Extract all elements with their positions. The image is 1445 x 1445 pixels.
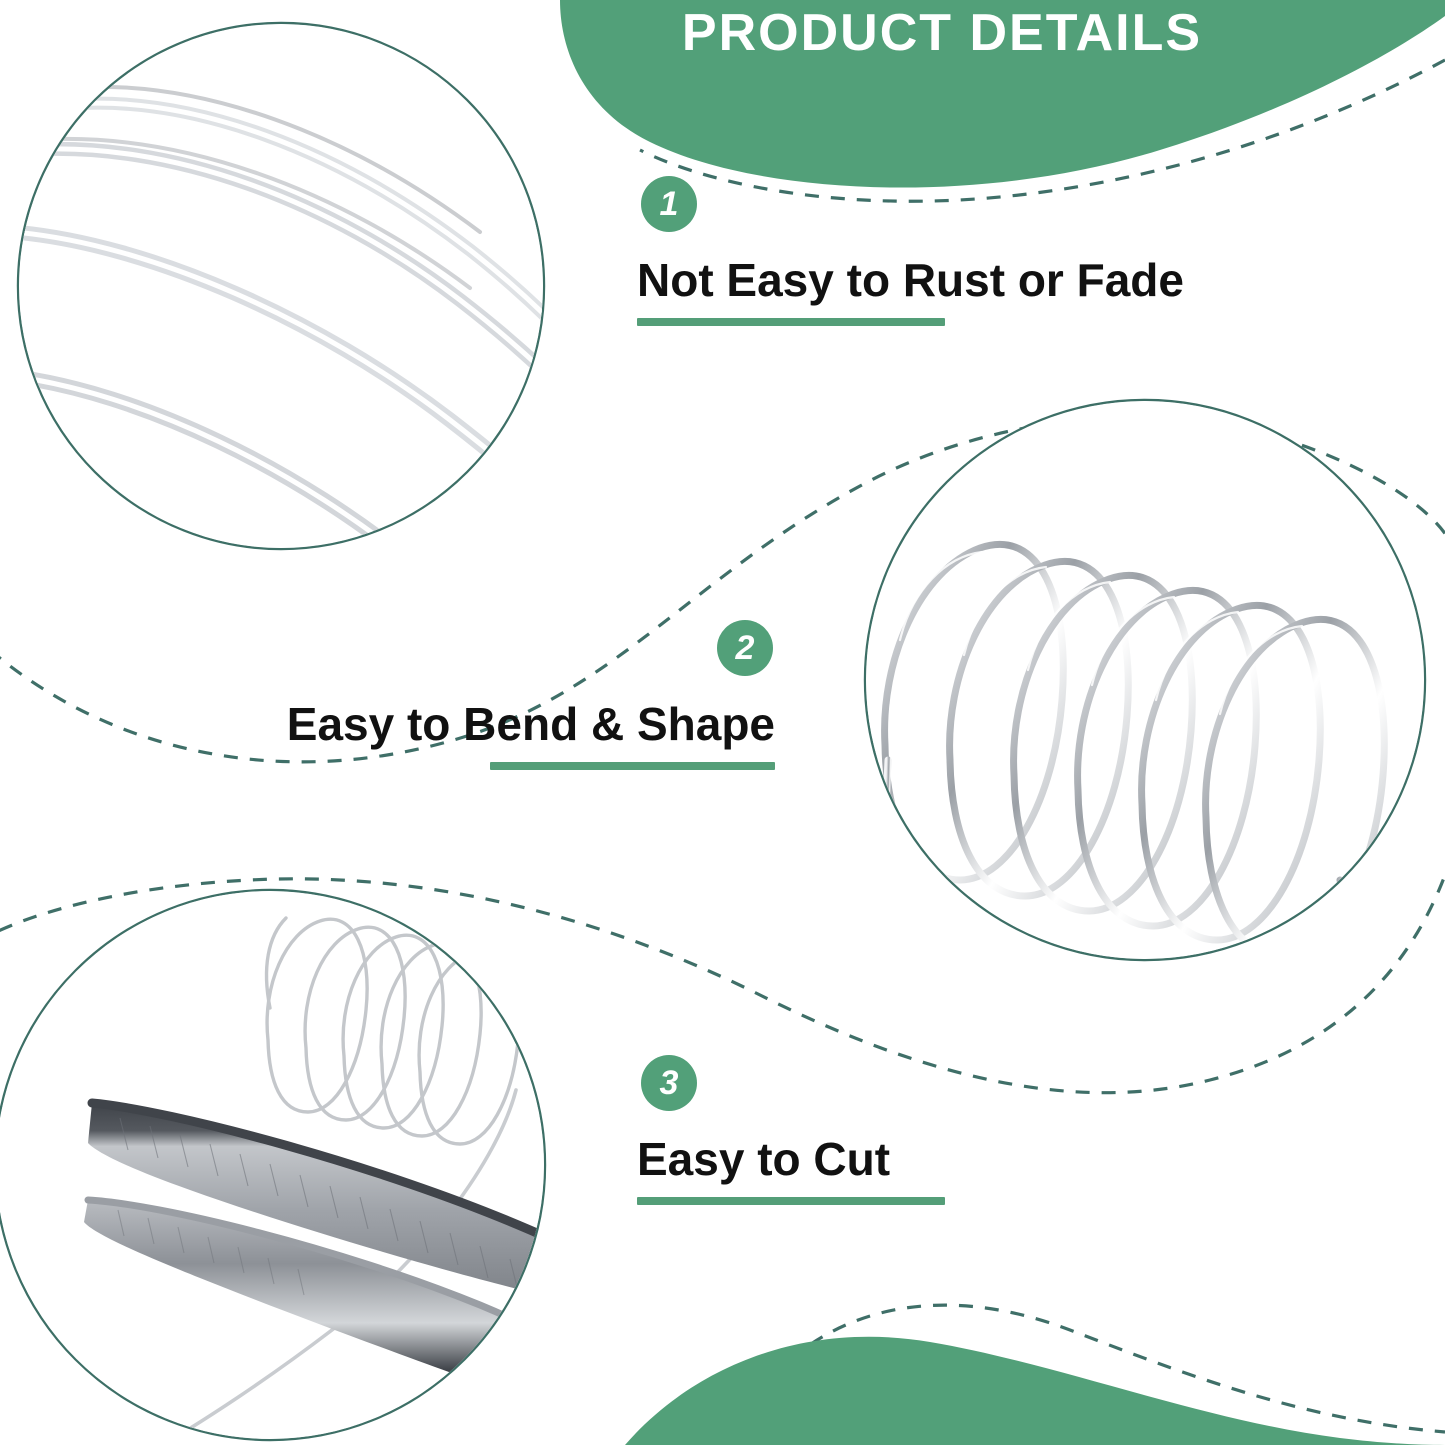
feature-title-2: Easy to Bend & Shape (230, 700, 775, 748)
feature-underline-3 (637, 1197, 945, 1205)
feature-item-1: 1 Not Easy to Rust or Fade (637, 176, 1237, 326)
feature-underline-1 (637, 318, 945, 326)
feature-item-2: 2 Easy to Bend & Shape (230, 620, 775, 770)
feature-number-badge-1: 1 (641, 176, 697, 232)
feature-title-1: Not Easy to Rust or Fade (637, 256, 1237, 304)
feature-underline-2 (490, 762, 775, 770)
page-title: PRODUCT DETAILS (622, 7, 1262, 59)
feature-number-badge-3: 3 (641, 1055, 697, 1111)
product-details-infographic: PRODUCT DETAILS 1 Not Easy to Rust or Fa… (0, 0, 1445, 1445)
content-layer: PRODUCT DETAILS 1 Not Easy to Rust or Fa… (0, 0, 1445, 1445)
feature-title-3: Easy to Cut (637, 1135, 1237, 1183)
feature-number-badge-2: 2 (717, 620, 773, 676)
feature-item-3: 3 Easy to Cut (637, 1055, 1237, 1205)
